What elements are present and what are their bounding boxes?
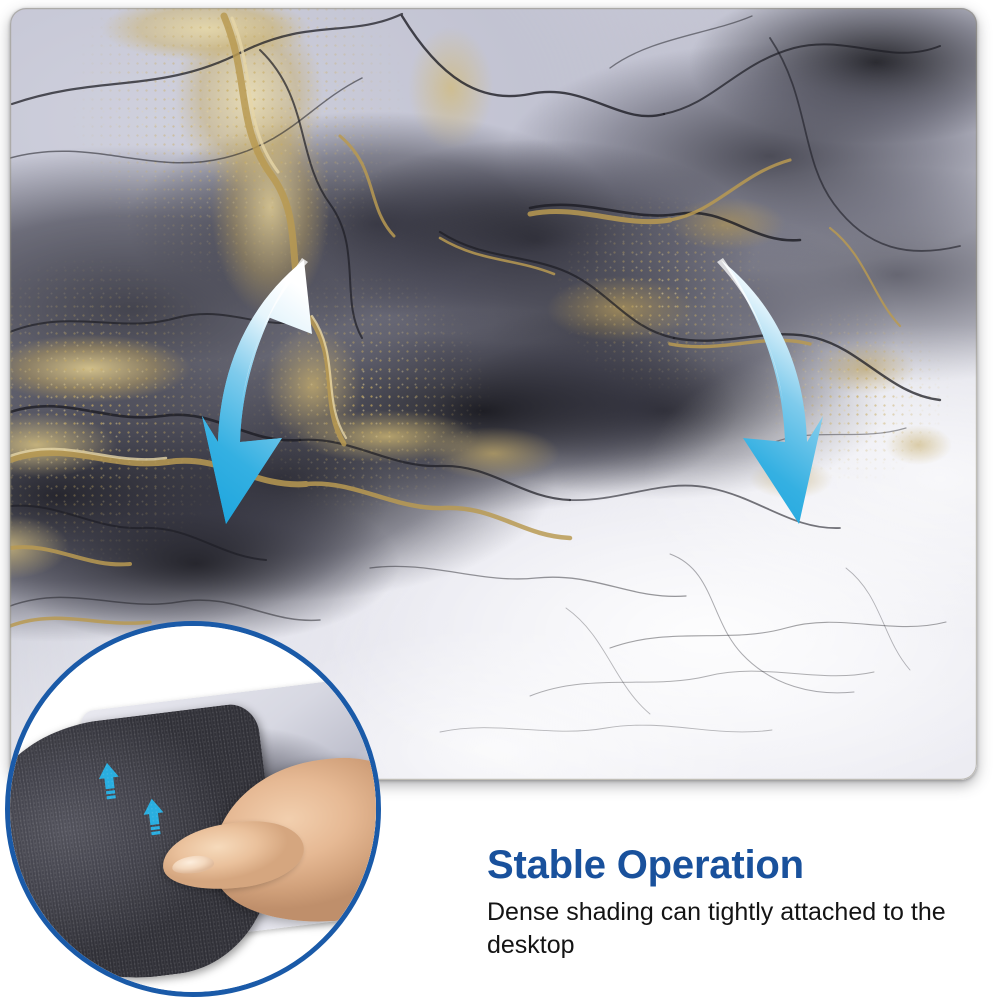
rotation-arrow-left — [200, 256, 350, 561]
grip-arrow-icon-1 — [93, 760, 124, 803]
feature-headline: Stable Operation — [487, 844, 957, 886]
feature-description: Dense shading can tightly attached to th… — [487, 896, 957, 961]
feature-text-block: Stable Operation Dense shading can tight… — [487, 844, 957, 961]
grip-arrow-icon-2 — [139, 796, 170, 839]
feature-description-line-1: Dense shading can tightly attached — [487, 898, 876, 926]
inset-mousepad-photo — [5, 666, 381, 996]
rotation-arrow-right — [675, 256, 825, 561]
inset-thumbnail — [171, 854, 215, 876]
stable-operation-detail-inset — [5, 621, 381, 997]
